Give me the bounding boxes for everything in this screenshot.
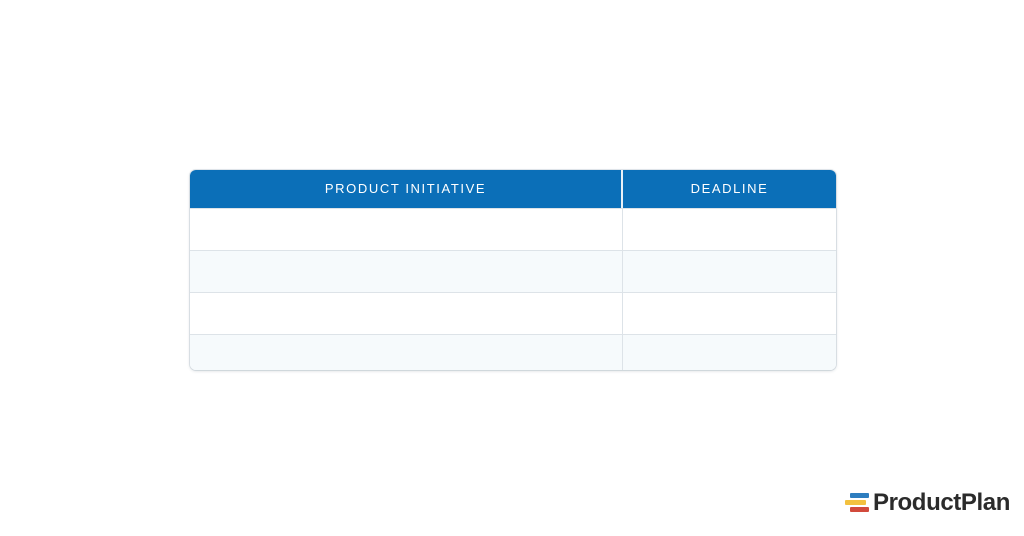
cell-initiative[interactable] (190, 250, 623, 292)
cell-initiative[interactable] (190, 208, 623, 250)
table-row[interactable] (190, 208, 836, 250)
logo-bar-bottom (850, 507, 869, 512)
logo-bar-top (850, 493, 869, 498)
column-header-product-initiative: PRODUCT INITIATIVE (190, 170, 623, 208)
table-row[interactable] (190, 334, 836, 370)
productplan-bars-icon (845, 493, 869, 514)
cell-initiative[interactable] (190, 334, 623, 370)
cell-deadline[interactable] (623, 334, 836, 370)
table-header-row: PRODUCT INITIATIVE DEADLINE (190, 170, 836, 208)
table-row[interactable] (190, 292, 836, 334)
product-initiative-table-container: PRODUCT INITIATIVE DEADLINE (190, 170, 834, 370)
productplan-wordmark: ProductPlan (873, 491, 1010, 515)
cell-deadline[interactable] (623, 208, 836, 250)
column-header-deadline: DEADLINE (623, 170, 836, 208)
table-body (190, 208, 836, 370)
cell-initiative[interactable] (190, 292, 623, 334)
cell-deadline[interactable] (623, 292, 836, 334)
product-initiative-table: PRODUCT INITIATIVE DEADLINE (190, 170, 836, 370)
cell-deadline[interactable] (623, 250, 836, 292)
logo-bar-middle (845, 500, 866, 505)
productplan-logo: ProductPlan (845, 488, 1010, 518)
table-header: PRODUCT INITIATIVE DEADLINE (190, 170, 836, 208)
table-row[interactable] (190, 250, 836, 292)
